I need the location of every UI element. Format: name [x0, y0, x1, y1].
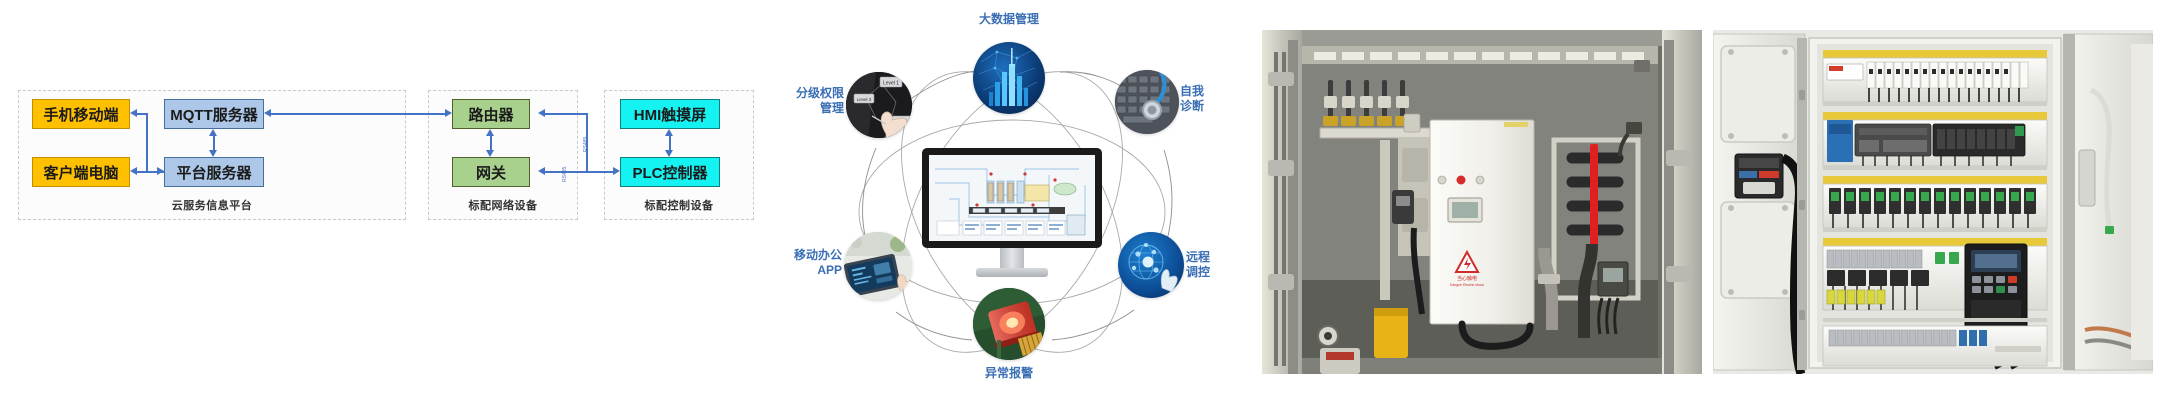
photo-control-box: 当心触电 Danger! Electric shock: [1262, 30, 1702, 374]
photo-plc-cabinet: [1713, 30, 2153, 374]
tablet-hand-icon: [844, 232, 912, 300]
arrow-hmi-up: [665, 129, 673, 136]
control-box-photo-icon: 当心触电 Danger! Electric shock: [1262, 30, 1702, 374]
node-plc-controller[interactable]: PLC控制器: [620, 157, 720, 187]
level-hierarchy-icon: Level 1 Level 3 Level: [846, 72, 912, 138]
bus-label-upper: RS485: [583, 137, 589, 152]
arrow-router-bus-in: [538, 109, 545, 117]
desktop-monitor-icon: [922, 148, 1102, 284]
capability-infographic: 大数据管理: [760, 0, 1260, 400]
arrow-plc-in: [613, 167, 620, 175]
bubble-access-control[interactable]: Level 1 Level 3 Level: [846, 72, 912, 138]
node-gateway[interactable]: 网关: [452, 157, 530, 187]
bubble-big-data-label: 大数据管理: [959, 12, 1059, 27]
bubble-access-control-label: 分级权限 管理: [764, 86, 844, 116]
bubble-big-data[interactable]: [973, 42, 1045, 114]
system-architecture-diagram: 云服务信息平台 标配网络设备 标配控制设备 手机移动端 客户端电脑 MQTT服务…: [0, 0, 760, 400]
globe-touch-icon: [1118, 232, 1184, 298]
screenshot-root: 云服务信息平台 标配网络设备 标配控制设备 手机移动端 客户端电脑 MQTT服务…: [0, 0, 2160, 400]
arrow-platform-down: [209, 150, 217, 157]
node-platform-server[interactable]: 平台服务器: [164, 157, 264, 187]
link-riser-to-mobile: [146, 113, 148, 172]
node-hmi-panel[interactable]: HMI触摸屏: [620, 99, 720, 129]
bubble-self-diagnosis-label: 自我 诊断: [1180, 84, 1236, 114]
bubble-remote-control[interactable]: [1118, 232, 1184, 298]
group-control-devices-caption: 标配控制设备: [605, 197, 753, 213]
link-router-bus-h: [545, 113, 587, 115]
arrow-gateway-down: [486, 150, 494, 157]
stethoscope-keyboard-icon: [1115, 70, 1179, 134]
bubble-remote-control-label: 远程 调控: [1186, 250, 1242, 280]
bubble-alarm-label: 异常报警: [959, 366, 1059, 381]
arrow-mqtt-up: [209, 129, 217, 136]
node-router[interactable]: 路由器: [452, 99, 530, 129]
warning-label: 当心触电: [1457, 275, 1477, 282]
level-tag-3: Level 3: [857, 97, 872, 102]
arrow-router-in: [445, 109, 452, 117]
node-client-pc[interactable]: 客户端电脑: [32, 157, 130, 187]
arrow-mqtt-left: [264, 109, 271, 117]
level-tag-1: Level 1: [883, 81, 899, 87]
data-tower-icon: [973, 42, 1045, 114]
bubble-self-diagnosis[interactable]: [1115, 70, 1179, 134]
scada-screen-icon: [929, 155, 1095, 241]
group-network-devices-caption: 标配网络设备: [429, 197, 577, 213]
warning-label-en: Danger! Electric shock: [1450, 283, 1484, 287]
arrow-clientpc-in: [130, 167, 137, 175]
group-cloud-platform-caption: 云服务信息平台: [19, 197, 405, 213]
arrow-router-up: [486, 129, 494, 136]
bus-label-lower: RS485: [562, 167, 568, 182]
arrow-plc-down: [665, 150, 673, 157]
arrow-gateway-bus-in: [538, 167, 545, 175]
bubble-mobile-app-label: 移动办公 APP: [766, 248, 842, 278]
plc-cabinet-photo-icon: [1713, 30, 2153, 374]
alarm-beacon-icon: [973, 288, 1045, 360]
link-mqtt-router: [271, 113, 445, 115]
link-bus-to-plc: [586, 171, 613, 173]
bubble-alarm[interactable]: [973, 288, 1045, 360]
bubble-mobile-app[interactable]: [844, 232, 912, 300]
arrow-mobile-in: [130, 109, 137, 117]
link-riser-to-mobile-h: [137, 113, 147, 115]
node-mobile-client[interactable]: 手机移动端: [32, 99, 130, 129]
arrow-platform-in: [157, 167, 164, 175]
node-mqtt-server[interactable]: MQTT服务器: [164, 99, 264, 129]
